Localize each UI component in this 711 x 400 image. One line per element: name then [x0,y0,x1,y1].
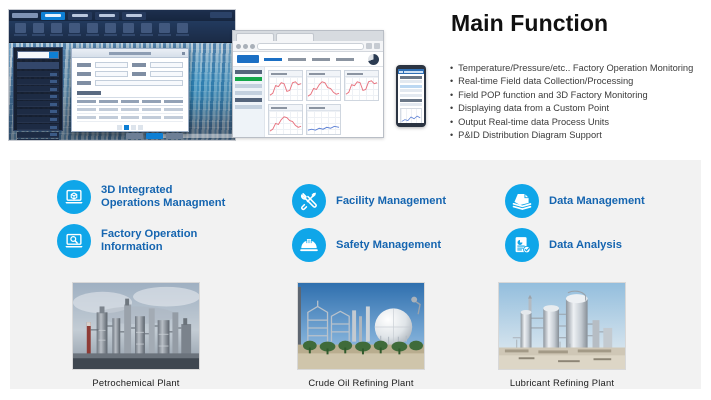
modal-section-title [77,91,101,95]
bullet-marker: • [450,62,453,75]
bullet-text: Temperature/Pressure/etc.. Factory Opera… [458,62,693,75]
list-item[interactable] [17,139,59,141]
toolbar-button-7[interactable] [121,23,136,40]
bullet-text: P&ID Distribution Diagram Support [458,129,602,142]
bullet-text: Displaying data from a Custom Point [458,102,609,115]
modal-close-button[interactable] [166,133,183,139]
modal-titlebar[interactable] [72,49,188,58]
list-item[interactable] [400,89,422,92]
dashboard-sidebar [233,67,265,138]
sidebar-search-input[interactable] [17,51,59,59]
feature-factory-operation-information[interactable]: Factory Operation Information [57,224,197,258]
feature-label: Data Management [549,195,645,208]
nav-item-3[interactable] [312,58,330,61]
sidebar-item[interactable] [235,91,262,95]
list-item[interactable] [17,124,59,130]
hard-hat-icon [292,228,326,262]
trend-plot [269,77,302,100]
modal-action-buttons [77,133,183,139]
feature-grid: 3D Integrated Operations Managment Facto… [10,166,701,266]
feature-data-management[interactable]: Data Management [505,184,645,218]
form-row [77,62,183,68]
modal-secondary-button[interactable] [126,133,143,139]
feature-label: Factory Operation Information [101,228,197,254]
toolbar-button-9[interactable] [157,23,172,40]
plant-photo [297,282,425,370]
bullet-marker: • [450,129,453,142]
field-label [132,63,146,67]
list-item: • Field POP function and 3D Factory Moni… [450,89,708,102]
mobile-trend-chart [400,108,422,124]
app-tab-4[interactable] [122,12,146,20]
trend-card[interactable] [268,104,303,135]
plant-photo [498,282,626,370]
address-input[interactable] [257,43,364,50]
feature-label: 3D Integrated Operations Managment [101,184,225,210]
photo-caption: Crude Oil Refining Plant [297,377,425,388]
bullet-marker: • [450,116,453,129]
app-tab-1[interactable] [41,12,65,20]
trend-card[interactable] [306,70,341,101]
extension-icon[interactable] [366,43,372,49]
nav-item-4[interactable] [336,58,354,61]
feature-bullet-list: • Temperature/Pressure/etc.. Factory Ope… [450,62,708,142]
photo-caption: Lubricant Refining Plant [498,377,626,388]
nav-item-2[interactable] [288,58,306,61]
list-item[interactable] [17,86,59,92]
field-input[interactable] [95,71,128,77]
browser-tabbar [233,31,383,41]
trend-card[interactable] [306,104,341,135]
page-prev[interactable] [117,125,122,130]
browser-tab-2[interactable] [276,33,314,41]
bullet-text: Real-time Field data Collection/Processi… [458,75,633,88]
list-item[interactable] [400,94,422,97]
list-item[interactable] [17,71,59,77]
dashboard-header [233,52,383,67]
list-item: • Real-time Field data Collection/Proces… [450,75,708,88]
field-input[interactable] [95,62,128,68]
mobile-app-header [398,69,424,74]
bullet-text: Output Real-time data Process Units [458,116,609,129]
feature-data-analysis[interactable]: Data Analysis [505,228,622,262]
list-item: • Output Real-time data Process Units [450,116,708,129]
laptop-magnifier-icon [57,224,91,258]
trend-plot [345,77,378,100]
trend-plot [269,111,302,134]
trend-card[interactable] [268,70,303,101]
modal-results-table [77,97,183,122]
screenshot-3d-plant-monitoring-app [8,9,236,141]
document-stack-icon [505,184,539,218]
reload-icon[interactable] [250,44,255,49]
bullet-marker: • [450,89,453,102]
list-item: • P&ID Distribution Diagram Support [450,129,708,142]
app-logo [12,13,38,18]
trend-card[interactable] [344,70,379,101]
page-next[interactable] [131,125,136,130]
form-row [77,80,183,86]
dashboard-logo [237,55,259,63]
dashboard-body [233,67,383,138]
photo-item-petrochemical-plant: Petrochemical Plant [72,282,200,388]
trend-plot [307,77,340,100]
app-tab-2[interactable] [68,12,92,20]
list-item[interactable] [17,117,59,123]
toolbar-button-6[interactable] [103,23,118,40]
menu-icon[interactable] [374,43,380,49]
sidebar-section-title [235,70,262,74]
field-label [77,63,91,67]
bullet-marker: • [450,102,453,115]
field-label [77,81,91,85]
bullet-marker: • [450,75,453,88]
screenshot-mobile-field-app [398,69,424,123]
sidebar-item-active[interactable] [235,77,262,81]
mobile-section-title [400,99,422,102]
table-row[interactable] [77,114,183,122]
field-input[interactable] [150,62,183,68]
feature-label: Data Analysis [549,239,622,252]
field-label [132,72,146,76]
trend-card-grid [265,67,383,138]
field-input[interactable] [95,80,183,86]
report-checkmark-icon [505,228,539,262]
sidebar-item[interactable] [235,84,262,88]
mobile-section-title [400,76,422,79]
forward-icon[interactable] [243,44,248,49]
screenshot-realtime-trend-dashboard [232,30,384,138]
list-item[interactable] [400,85,422,88]
table-row[interactable] [77,106,183,114]
list-item[interactable] [400,80,422,83]
table-header-row [77,98,183,106]
bullet-text: Field POP function and 3D Factory Monito… [458,89,647,102]
plant-photo [72,282,200,370]
app-titlebar [9,10,235,21]
feature-facility-management[interactable]: Facility Management [292,184,446,218]
list-item: • Displaying data from a Custom Point [450,102,708,115]
list-item[interactable] [17,94,59,100]
table-pagination[interactable] [72,125,188,130]
new-tab-icon[interactable] [316,33,325,41]
toolbar-button-3[interactable] [49,23,64,40]
feature-safety-management[interactable]: Safety Management [292,228,441,262]
list-item[interactable] [17,101,59,107]
sidebar-list-header [17,62,59,69]
trend-plot [307,111,340,134]
feature-3d-integrated-operations-managment[interactable]: 3D Integrated Operations Managment [57,180,225,214]
page-last[interactable] [138,125,143,130]
slide-root: Main Function • Temperature/Pressure/etc… [0,0,711,400]
modal-primary-button[interactable] [146,133,163,139]
dashboard-nav [264,58,363,61]
list-item[interactable] [17,79,59,85]
laptop-3d-box-icon [57,180,91,214]
list-item[interactable] [17,132,59,138]
toolbar-button-2[interactable] [31,23,46,40]
status-gauge [368,54,379,65]
settings-modal-dialog [71,48,189,132]
mobile-phone-mockup [396,65,426,127]
list-item[interactable] [400,103,422,106]
sidebar-section-title [235,98,262,102]
modal-form [72,58,188,86]
form-row [77,71,183,77]
equipment-list-sidebar [13,47,63,131]
field-label [77,72,91,76]
wrench-screwdriver-icon [292,184,326,218]
field-input[interactable] [150,71,183,77]
toolbar-button-5[interactable] [85,23,100,40]
app-toolbar [9,21,235,43]
feature-label: Safety Management [336,239,441,252]
nav-item-1[interactable] [264,58,282,61]
toolbar-button-1[interactable] [13,23,28,40]
page-title: Main Function [451,10,608,37]
app-tab-3[interactable] [95,12,119,20]
photo-item-crude-oil-refining-plant: Crude Oil Refining Plant [297,282,425,388]
photo-item-lubricant-refining-plant: Lubricant Refining Plant [498,282,626,388]
photo-caption: Petrochemical Plant [72,377,200,388]
back-icon[interactable] [236,44,241,49]
browser-urlbar [233,41,383,52]
toolbar-button-10[interactable] [175,23,190,40]
page-current[interactable] [124,125,129,130]
user-account-chip[interactable] [210,12,232,18]
feature-label: Facility Management [336,195,446,208]
browser-tab-1[interactable] [236,33,274,41]
list-item: • Temperature/Pressure/etc.. Factory Ope… [450,62,708,75]
sidebar-item[interactable] [235,105,262,109]
list-item[interactable] [17,109,59,115]
toolbar-button-4[interactable] [67,23,82,40]
toolbar-button-8[interactable] [139,23,154,40]
